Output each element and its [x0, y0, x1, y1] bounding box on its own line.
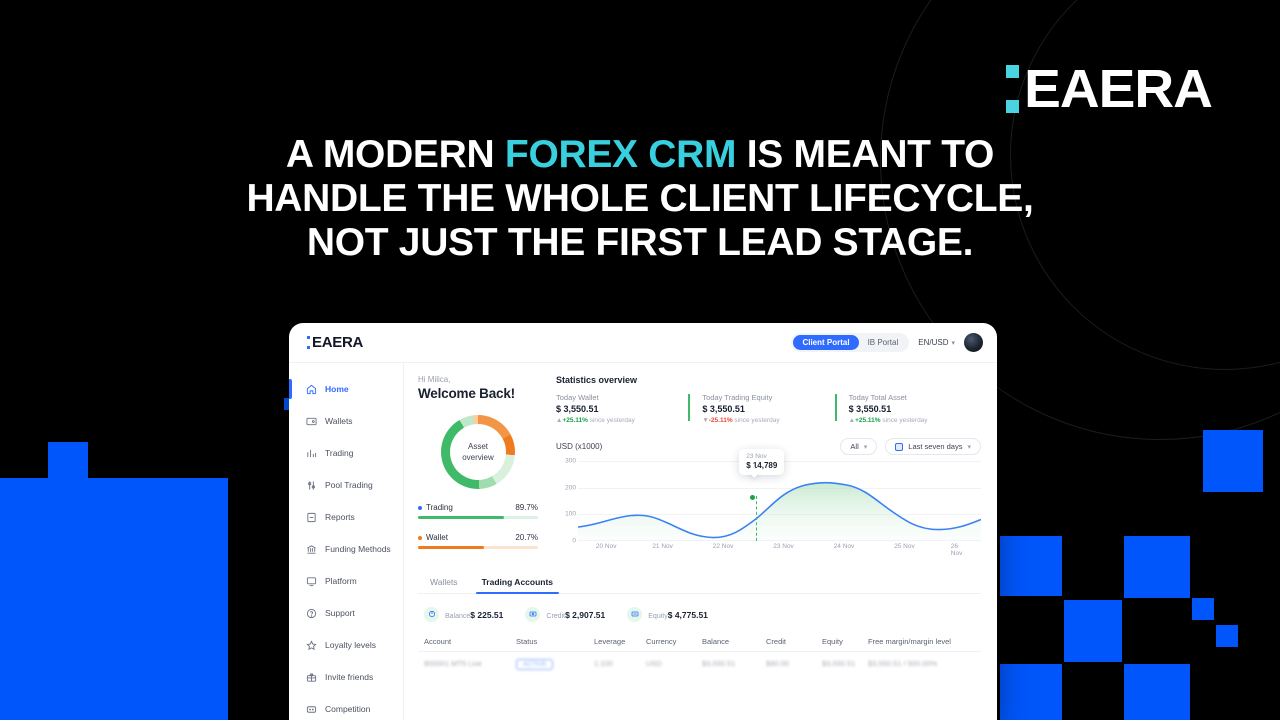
- currency-selector[interactable]: EN/USD ▾: [918, 338, 955, 347]
- headline-line1-a: A MODERN: [286, 133, 505, 176]
- legend-dot-trading-icon: [418, 506, 422, 510]
- sidebar-item-trading[interactable]: Trading: [289, 437, 403, 469]
- dashboard-logo-text: EAERA: [312, 334, 363, 351]
- kpi-credit-label: Credit: [546, 613, 565, 620]
- chevron-down-icon: ▾: [967, 443, 971, 451]
- sidebar-item-platform-label: Platform: [325, 576, 357, 586]
- sidebar-item-funding-methods[interactable]: Funding Methods: [289, 533, 403, 565]
- y-tick-100: 100: [565, 511, 576, 518]
- kpi-balance: Balance$ 225.51: [424, 605, 503, 623]
- bg-square-r2: [1000, 536, 1062, 596]
- column-credit: Credit: [766, 637, 822, 646]
- dashboard-logo[interactable]: EAERA: [307, 334, 363, 351]
- sidebar-item-support-label: Support: [325, 608, 355, 618]
- legend-item-wallet: Wallet 20.7%: [418, 533, 538, 549]
- cell-credit: $90.00: [766, 659, 822, 670]
- legend-wallet-label: Wallet: [426, 533, 448, 542]
- headline-line-3: NOT JUST THE FIRST LEAD STAGE.: [0, 221, 1280, 265]
- trophy-icon: [306, 704, 317, 715]
- wallet-icon: [306, 416, 317, 427]
- y-tick-300: 300: [565, 458, 576, 465]
- tab-wallets[interactable]: Wallets: [424, 577, 464, 593]
- gift-icon: [306, 672, 317, 683]
- sidebar-item-wallets-label: Wallets: [325, 416, 353, 426]
- legend-trading-label: Trading: [426, 503, 453, 512]
- accounts-table-header: Account Status Leverage Currency Balance…: [418, 637, 981, 652]
- legend-trading-bar: [418, 516, 538, 519]
- tab-client-portal[interactable]: Client Portal: [793, 335, 858, 350]
- asset-legend: Trading 89.7% Wallet 20.7%: [418, 503, 538, 549]
- stat-today-trading-equity-delta: ▼-25.11% since yesterday: [702, 417, 826, 424]
- cell-status: ACTIVE: [516, 659, 594, 670]
- bg-square-r4: [1192, 598, 1214, 620]
- headline-line1-b: IS MEANT TO: [736, 133, 994, 176]
- account-kpis: Balance$ 225.51 Credit$ 2,907.51 Equity$…: [418, 605, 981, 623]
- poster-stage: EAERA A MODERN FOREX CRM IS MEANT TO HAN…: [0, 0, 1280, 720]
- stat-today-trading-equity-label: Today Trading Equity: [702, 393, 826, 402]
- star-icon: [306, 640, 317, 651]
- home-icon: [306, 384, 317, 395]
- legend-item-trading: Trading 89.7%: [418, 503, 538, 519]
- sidebar-item-pool-trading-label: Pool Trading: [325, 480, 373, 490]
- kpi-equity-label: Equity: [648, 613, 667, 620]
- donut-label-line1: Asset: [468, 441, 488, 452]
- legend-wallet-bar: [418, 546, 538, 549]
- column-free-margin: Free margin/margin level: [868, 637, 975, 646]
- bg-square-r5: [1216, 625, 1238, 647]
- sidebar: Home Wallets Trading Pool Trading Report…: [289, 363, 404, 720]
- bg-square-r8: [1124, 664, 1190, 720]
- avatar[interactable]: [964, 333, 983, 352]
- greeting: Hi Milica, Welcome Back!: [418, 375, 538, 401]
- headline-line-2: HANDLE THE WHOLE CLIENT LIFECYCLE,: [0, 177, 1280, 221]
- tab-trading-accounts[interactable]: Trading Accounts: [476, 577, 559, 593]
- chart-annotation-line: [756, 496, 757, 541]
- filter-range-dropdown[interactable]: Last seven days ▾: [885, 438, 981, 455]
- calendar-icon: [895, 443, 903, 451]
- chart-filters: All ▾ Last seven days ▾: [840, 438, 981, 455]
- column-balance: Balance: [702, 637, 766, 646]
- logo-wordmark: EAERA: [1024, 62, 1212, 116]
- legend-trading-value: 89.7%: [515, 503, 538, 512]
- cell-balance: $3,550.51: [702, 659, 766, 670]
- column-leverage: Leverage: [594, 637, 646, 646]
- statistics-row: Today Wallet $ 3,550.51 ▲+25.11% since y…: [556, 393, 981, 424]
- accounts-tabs: Wallets Trading Accounts: [418, 577, 981, 594]
- stat-today-trading-equity-value: $ 3,550.51: [702, 404, 826, 414]
- status-badge: ACTIVE: [516, 659, 553, 670]
- sidebar-item-pool-trading[interactable]: Pool Trading: [289, 469, 403, 501]
- sidebar-item-competition-label: Competition: [325, 704, 370, 714]
- stat-today-wallet-delta: ▲+25.11% since yesterday: [556, 417, 680, 424]
- sidebar-item-support[interactable]: Support: [289, 597, 403, 629]
- x-tick-5: 25 Nov: [894, 543, 915, 550]
- cell-free-margin: $3,550.51 / 500.00%: [868, 659, 975, 670]
- cell-leverage: 1:100: [594, 659, 646, 670]
- stat-today-wallet-delta-value: +25.11%: [562, 417, 587, 424]
- sidebar-item-trading-label: Trading: [325, 448, 354, 458]
- headline-highlight: FOREX CRM: [505, 133, 736, 176]
- x-tick-2: 22 Nov: [713, 543, 734, 550]
- sidebar-item-competition[interactable]: Competition: [289, 693, 403, 720]
- equity-icon: [627, 607, 642, 622]
- dashboard-body: Home Wallets Trading Pool Trading Report…: [289, 363, 997, 720]
- filter-all-dropdown[interactable]: All ▾: [840, 438, 877, 455]
- usd-area-chart: 300 200 100 0: [556, 461, 981, 557]
- eaera-logo: EAERA: [1006, 62, 1210, 116]
- stat-today-total-asset-value: $ 3,550.51: [849, 404, 973, 414]
- tab-ib-portal[interactable]: IB Portal: [859, 335, 908, 350]
- chart-tooltip-value: $ 14,789: [746, 461, 777, 470]
- cell-currency: USD: [646, 659, 702, 670]
- sidebar-item-reports[interactable]: Reports: [289, 501, 403, 533]
- column-equity: Equity: [822, 637, 868, 646]
- bg-square-r6: [1064, 600, 1122, 662]
- column-currency: Currency: [646, 637, 702, 646]
- balance-icon: [424, 607, 439, 622]
- legend-wallet-value: 20.7%: [515, 533, 538, 542]
- y-tick-200: 200: [565, 484, 576, 491]
- stat-today-wallet-delta-suffix: since yesterday: [588, 417, 635, 424]
- currency-selector-value: EN/USD: [918, 338, 948, 347]
- stat-today-trading-equity-delta-suffix: since yesterday: [733, 417, 780, 424]
- chart-x-axis: 20 Nov 21 Nov 22 Nov 23 Nov 24 Nov 25 No…: [578, 543, 981, 557]
- stat-today-total-asset-delta-value: +25.11%: [855, 417, 880, 424]
- sidebar-item-invite-friends[interactable]: Invite friends: [289, 661, 403, 693]
- sidebar-item-loyalty-levels[interactable]: Loyalty levels: [289, 629, 403, 661]
- x-tick-3: 23 Nov: [773, 543, 794, 550]
- bg-square-r3: [1124, 536, 1190, 598]
- portal-switch[interactable]: Client Portal IB Portal: [791, 333, 909, 352]
- donut-ring: Asset overview: [441, 415, 515, 489]
- asset-overview-chart: Asset overview: [418, 415, 538, 489]
- sidebar-item-loyalty-levels-label: Loyalty levels: [325, 640, 376, 650]
- donut-label: Asset overview: [441, 415, 515, 489]
- dashboard-header: EAERA Client Portal IB Portal EN/USD ▾: [289, 323, 997, 363]
- chart-tooltip-date: 23 Nov: [746, 453, 777, 460]
- stat-today-total-asset-delta: ▲+25.11% since yesterday: [849, 417, 973, 424]
- document-icon: [306, 512, 317, 523]
- kpi-balance-label: Balance: [445, 613, 470, 620]
- sidebar-item-funding-methods-label: Funding Methods: [325, 544, 391, 554]
- chevron-down-icon: ▾: [951, 339, 955, 347]
- headline-line-1: A MODERN FOREX CRM IS MEANT TO: [0, 133, 1280, 177]
- sidebar-item-invite-friends-label: Invite friends: [325, 672, 373, 682]
- statistics-section: Statistics overview Today Wallet $ 3,550…: [538, 375, 981, 563]
- chart-plot-area: 23 Nov $ 14,789: [578, 461, 981, 541]
- donut-label-line2: overview: [462, 452, 494, 463]
- sidebar-item-platform[interactable]: Platform: [289, 565, 403, 597]
- stat-today-trading-equity: Today Trading Equity $ 3,550.51 ▼-25.11%…: [688, 393, 834, 424]
- bar-chart-icon: [306, 448, 317, 459]
- sidebar-item-home[interactable]: Home: [289, 373, 403, 405]
- kpi-credit: Credit$ 2,907.51: [525, 605, 605, 623]
- kpi-balance-value: $ 225.51: [470, 610, 503, 620]
- stat-today-total-asset-label: Today Total Asset: [849, 393, 973, 402]
- sliders-icon: [306, 480, 317, 491]
- stat-today-wallet: Today Wallet $ 3,550.51 ▲+25.11% since y…: [556, 393, 688, 424]
- cell-account: 800001 MT5 Live: [424, 659, 516, 670]
- cell-equity: $3,550.51: [822, 659, 868, 670]
- dashboard-header-right: Client Portal IB Portal EN/USD ▾: [791, 333, 983, 352]
- left-column: Hi Milica, Welcome Back! Asset overview: [418, 375, 538, 563]
- dashboard-main: Hi Milica, Welcome Back! Asset overview: [404, 363, 997, 720]
- x-tick-4: 24 Nov: [834, 543, 855, 550]
- credit-icon: [525, 607, 540, 622]
- dashboard-card: EAERA Client Portal IB Portal EN/USD ▾: [289, 323, 997, 720]
- bg-square-left-large: [0, 478, 228, 720]
- stat-today-wallet-label: Today Wallet: [556, 393, 680, 402]
- bank-icon: [306, 544, 317, 555]
- sidebar-item-reports-label: Reports: [325, 512, 355, 522]
- chart-axis-caption: USD (x1000): [556, 442, 602, 451]
- kpi-equity-value: $ 4,775.51: [668, 610, 708, 620]
- overview-row: Hi Milica, Welcome Back! Asset overview: [418, 375, 981, 563]
- sidebar-item-wallets[interactable]: Wallets: [289, 405, 403, 437]
- monitor-icon: [306, 576, 317, 587]
- kpi-credit-value: $ 2,907.51: [565, 610, 605, 620]
- stat-today-wallet-value: $ 3,550.51: [556, 404, 680, 414]
- legend-dot-wallet-icon: [418, 536, 422, 540]
- table-row[interactable]: 800001 MT5 Live ACTIVE 1:100 USD $3,550.…: [418, 652, 981, 670]
- x-tick-1: 21 Nov: [652, 543, 673, 550]
- x-tick-6: 26 Nov: [951, 543, 971, 557]
- page-title: A MODERN FOREX CRM IS MEANT TO HANDLE TH…: [0, 133, 1280, 265]
- greeting-welcome: Welcome Back!: [418, 386, 538, 401]
- dashboard-logo-dots-icon: [307, 336, 310, 349]
- statistics-title: Statistics overview: [556, 375, 981, 385]
- bg-square-left-small: [48, 442, 88, 480]
- stat-today-total-asset: Today Total Asset $ 3,550.51 ▲+25.11% si…: [835, 393, 981, 424]
- stat-today-trading-equity-delta-value: -25.11%: [709, 417, 733, 424]
- greeting-hi: Hi Milica,: [418, 375, 538, 384]
- filter-range-label: Last seven days: [908, 442, 962, 451]
- chevron-down-icon: ▾: [864, 443, 868, 451]
- filter-all-label: All: [850, 442, 858, 451]
- x-tick-0: 20 Nov: [596, 543, 617, 550]
- kpi-equity: Equity$ 4,775.51: [627, 605, 708, 623]
- sidebar-item-home-label: Home: [325, 384, 349, 394]
- bg-square-r7: [1000, 664, 1062, 720]
- stat-today-total-asset-delta-suffix: since yesterday: [881, 417, 928, 424]
- logo-dots-icon: [1006, 65, 1019, 113]
- chart-tooltip: 23 Nov $ 14,789: [739, 449, 784, 475]
- chart-y-axis: 300 200 100 0: [556, 461, 578, 541]
- help-circle-icon: [306, 608, 317, 619]
- column-status: Status: [516, 637, 594, 646]
- column-account: Account: [424, 637, 516, 646]
- bg-square-r1: [1203, 430, 1263, 492]
- y-tick-0: 0: [572, 538, 576, 545]
